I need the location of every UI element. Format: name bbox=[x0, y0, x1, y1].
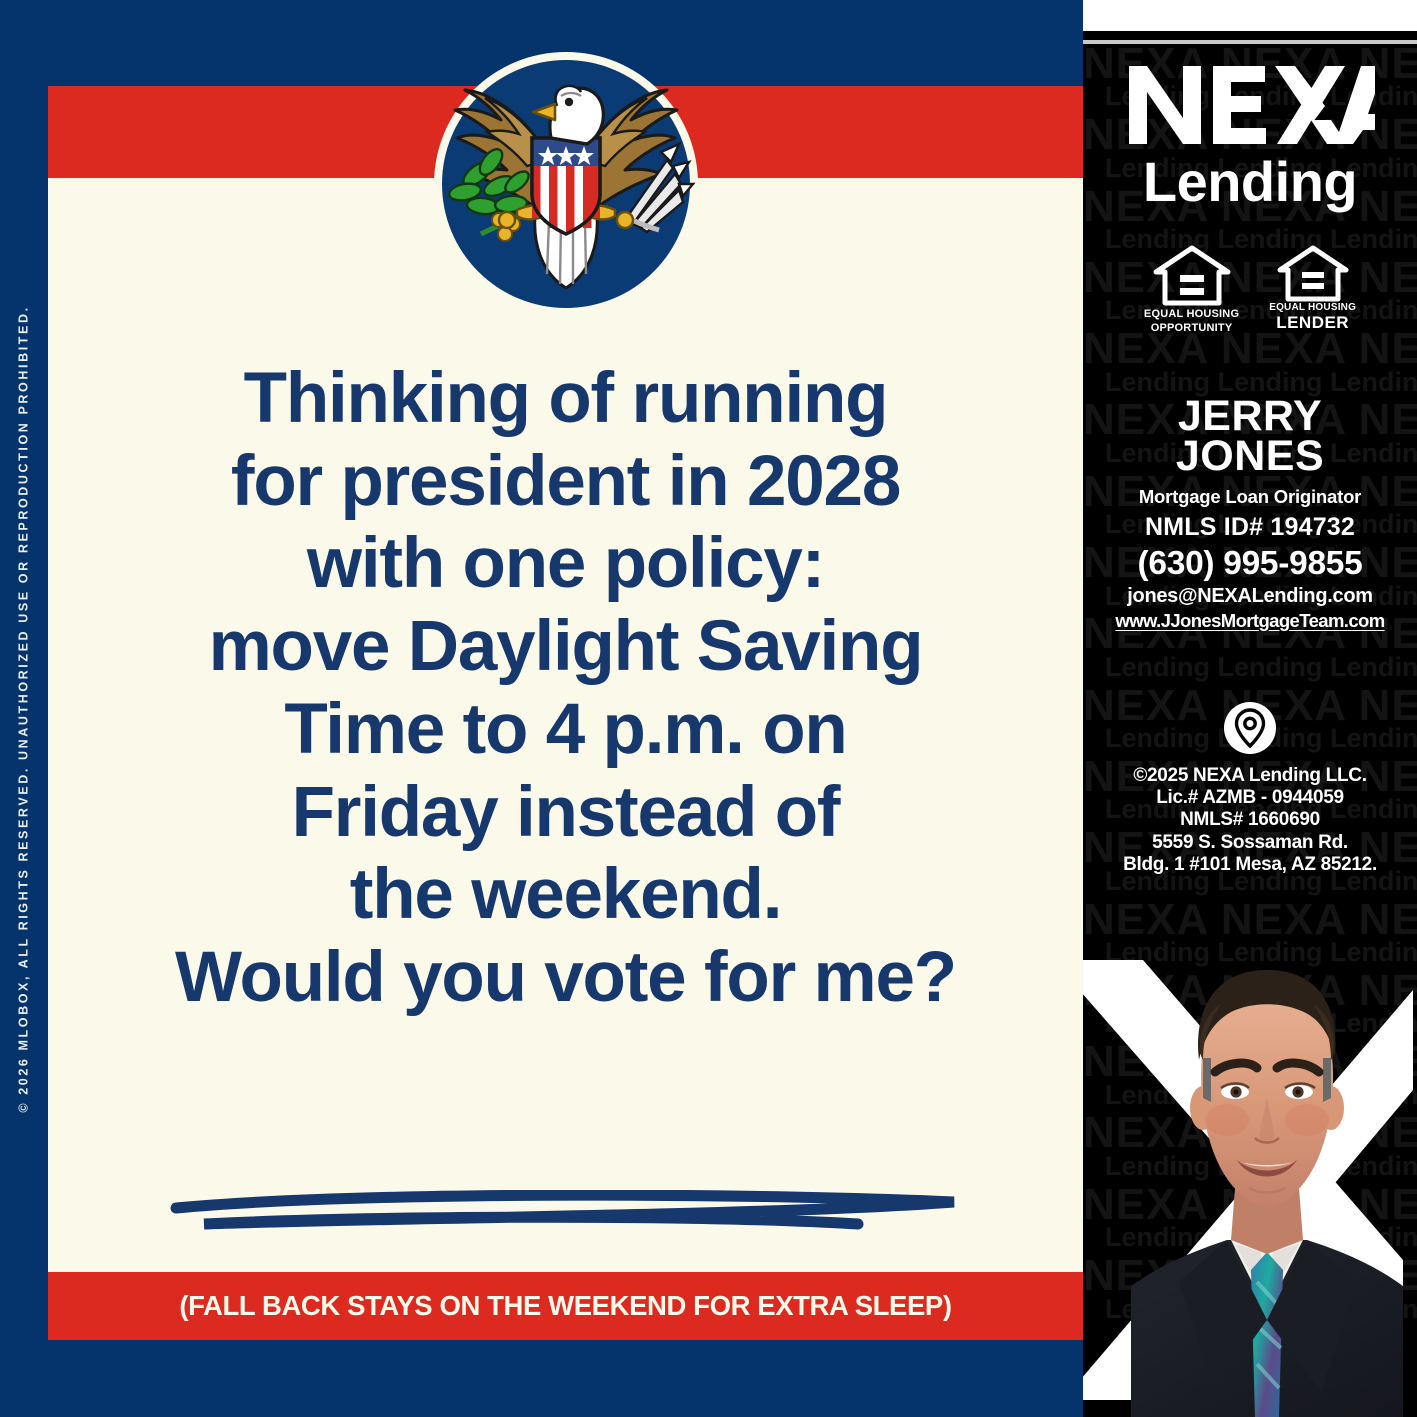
equal-housing-lender-icon bbox=[1277, 245, 1349, 303]
nexa-logo-wordmark bbox=[1125, 62, 1375, 158]
legal-line: ©2025 NEXA Lending LLC. bbox=[1083, 765, 1417, 787]
caption-bar: (FALL BACK STAYS ON THE WEEKEND FOR EXTR… bbox=[48, 1272, 1083, 1340]
nexa-logo-lending: Lending bbox=[1083, 154, 1417, 210]
agent-last-name: JONES bbox=[1083, 436, 1417, 476]
equal-housing-row: EQUAL HOUSING OPPORTUNITY EQUAL HOUSING … bbox=[1083, 245, 1417, 334]
headline-line: for president in 2028 bbox=[88, 441, 1043, 524]
legal-line: NMLS# 1660690 bbox=[1083, 809, 1417, 831]
headline-line: Would you vote for me? bbox=[88, 937, 1043, 1020]
underline-swoosh bbox=[168, 1190, 968, 1240]
social-post-canvas: © 2026 MLOBOX, ALL RIGHTS RESERVED. UNAU… bbox=[0, 0, 1417, 1417]
copyright-strip: © 2026 MLOBOX, ALL RIGHTS RESERVED. UNAU… bbox=[0, 0, 48, 1417]
agent-website[interactable]: www.JJonesMortgageTeam.com bbox=[1083, 610, 1417, 632]
eh-lender-line1: EQUAL HOUSING bbox=[1269, 303, 1356, 314]
equal-housing-opportunity: EQUAL HOUSING OPPORTUNITY bbox=[1144, 245, 1239, 334]
legal-address-block: ©2025 NEXA Lending LLC. Lic.# AZMB - 094… bbox=[1083, 765, 1417, 876]
equal-housing-lender: EQUAL HOUSING LENDER bbox=[1269, 245, 1356, 334]
agent-nmls-id: NMLS ID# 194732 bbox=[1083, 513, 1417, 542]
card-bottom-navy-band bbox=[48, 1340, 1083, 1417]
us-eagle-seal bbox=[421, 34, 711, 324]
agent-phone[interactable]: (630) 995-9855 bbox=[1083, 545, 1417, 583]
legal-line: Bldg. 1 #101 Mesa, AZ 85212. bbox=[1083, 854, 1417, 876]
headline-line: Friday instead of bbox=[88, 772, 1043, 855]
main-card: Thinking of running for president in 202… bbox=[48, 0, 1083, 1417]
branding-rail: NEXA NEXA NEXA NEXALending Lending Lendi… bbox=[1083, 0, 1417, 1417]
eh-opportunity-line2: OPPORTUNITY bbox=[1144, 323, 1239, 335]
equal-housing-opportunity-icon bbox=[1153, 245, 1231, 307]
headline-line: with one policy: bbox=[88, 523, 1043, 606]
headline: Thinking of running for president in 202… bbox=[88, 358, 1043, 1020]
agent-info: JERRY JONES Mortgage Loan Originator NML… bbox=[1083, 396, 1417, 632]
headline-line: Thinking of running bbox=[88, 358, 1043, 441]
copyright-text: © 2026 MLOBOX, ALL RIGHTS RESERVED. UNAU… bbox=[17, 305, 31, 1112]
agent-email[interactable]: jones@NEXALending.com bbox=[1083, 585, 1417, 608]
eh-lender-line2: LENDER bbox=[1269, 314, 1356, 332]
map-pin-icon bbox=[1083, 700, 1417, 761]
agent-first-name: JERRY bbox=[1083, 396, 1417, 436]
agent-title: Mortgage Loan Originator bbox=[1083, 486, 1417, 508]
headline-line: the weekend. bbox=[88, 854, 1043, 937]
legal-line: 5559 S. Sossaman Rd. bbox=[1083, 832, 1417, 854]
caption-text: (FALL BACK STAYS ON THE WEEKEND FOR EXTR… bbox=[179, 1290, 951, 1322]
headline-line: Time to 4 p.m. on bbox=[88, 689, 1043, 772]
headline-line: move Daylight Saving bbox=[88, 606, 1043, 689]
eh-opportunity-line1: EQUAL HOUSING bbox=[1144, 309, 1239, 321]
nexa-logo: Lending bbox=[1083, 62, 1417, 210]
legal-line: Lic.# AZMB - 0944059 bbox=[1083, 787, 1417, 809]
agent-headshot bbox=[1131, 952, 1403, 1417]
